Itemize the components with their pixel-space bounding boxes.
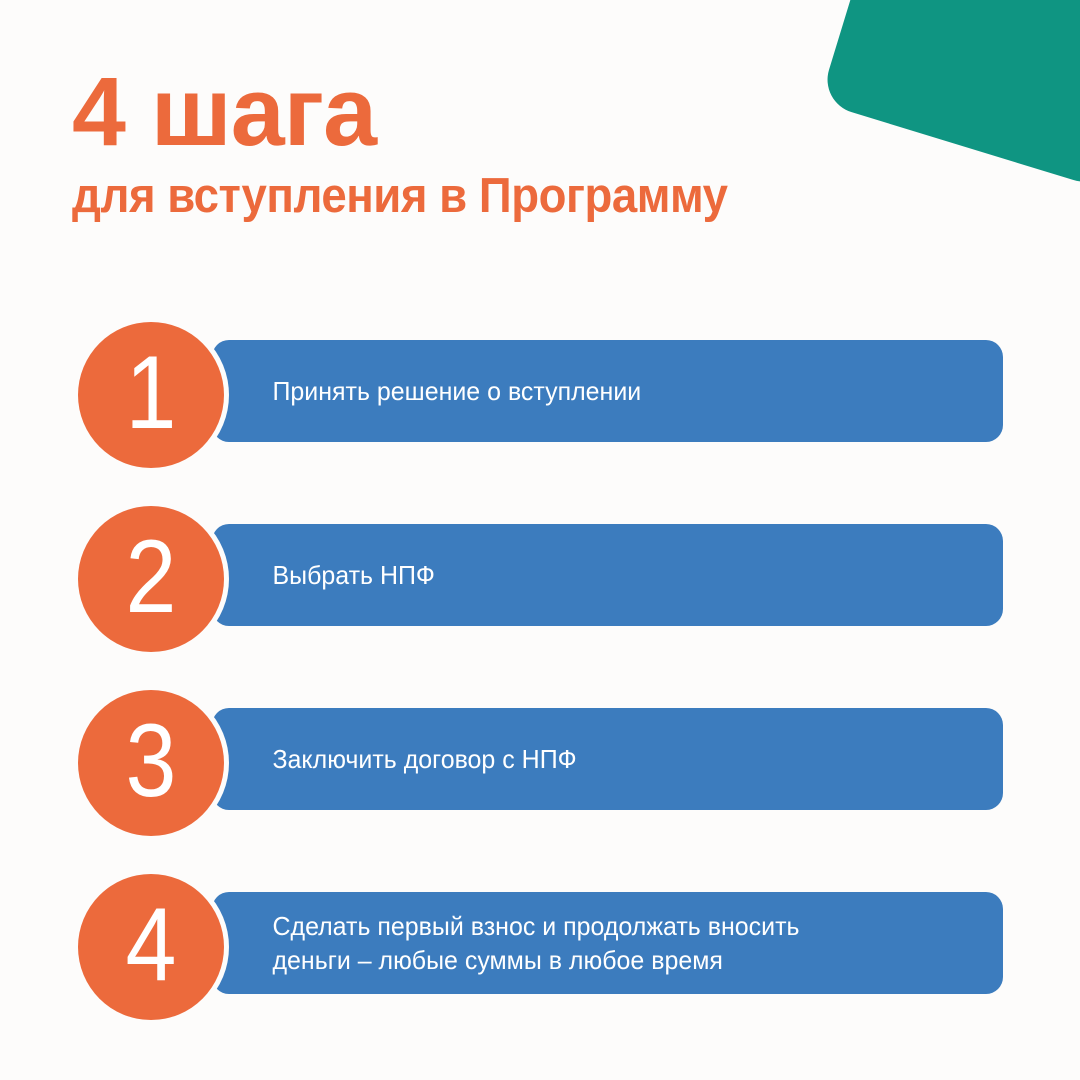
step-badge-2: 2 (78, 506, 224, 652)
step-bar-2: Выбрать НПФ (212, 524, 1003, 626)
step-label-3: Заключить договор с НПФ (212, 742, 605, 776)
steps-list: Принять решение о вступлении 1 Выбрать Н… (0, 322, 1080, 1020)
step-label-4: Сделать первый взнос и продолжать вносит… (212, 909, 828, 977)
step-number-4: 4 (126, 893, 177, 997)
step-bar-4: Сделать первый взнос и продолжать вносит… (212, 892, 1003, 994)
infographic-poster: 4 шага для вступления в Программу Принят… (0, 0, 1080, 1080)
headline-secondary: для вступления в Программу (72, 166, 928, 226)
step-item-4: Сделать первый взнос и продолжать вносит… (0, 874, 1080, 1020)
step-label-1: Принять решение о вступлении (212, 374, 670, 408)
step-number-3: 3 (126, 709, 177, 813)
page-title: 4 шага для вступления в Программу (72, 58, 992, 226)
headline-primary: 4 шага (72, 58, 992, 166)
step-bar-3: Заключить договор с НПФ (212, 708, 1003, 810)
step-bar-1: Принять решение о вступлении (212, 340, 1003, 442)
step-item-3: Заключить договор с НПФ 3 (0, 690, 1080, 836)
step-label-2: Выбрать НПФ (212, 558, 464, 592)
step-badge-1: 1 (78, 322, 224, 468)
step-item-1: Принять решение о вступлении 1 (0, 322, 1080, 468)
step-number-2: 2 (126, 525, 177, 629)
step-number-1: 1 (126, 341, 177, 445)
step-badge-4: 4 (78, 874, 224, 1020)
step-item-2: Выбрать НПФ 2 (0, 506, 1080, 652)
step-badge-3: 3 (78, 690, 224, 836)
